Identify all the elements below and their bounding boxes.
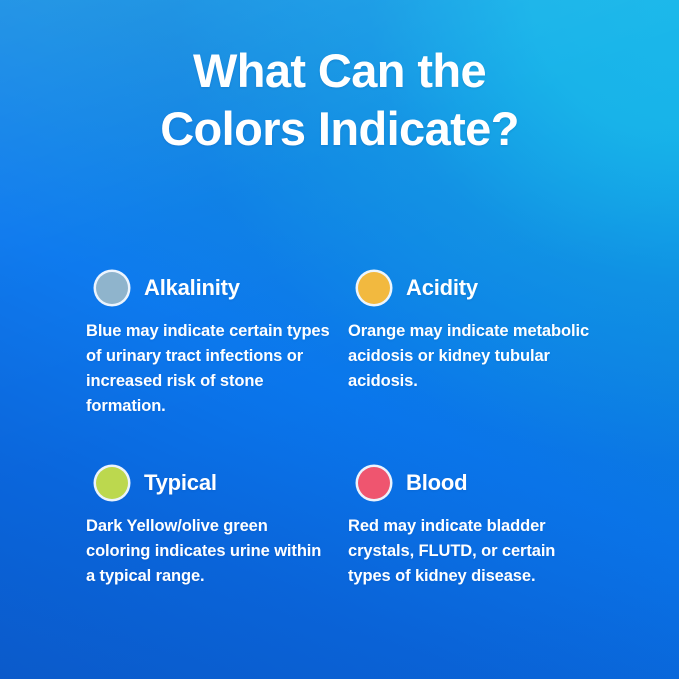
page-title-line-2: Colors Indicate? (0, 100, 679, 158)
color-card-typical: Typical Dark Yellow/olive green coloring… (86, 463, 348, 589)
page-title-line-1: What Can the (0, 42, 679, 100)
circle-swatch-icon (358, 272, 390, 304)
card-description: Blue may indicate certain types of urina… (86, 319, 331, 419)
card-header: Typical (96, 463, 348, 503)
color-card-blood: Blood Red may indicate bladder crystals,… (348, 463, 606, 589)
card-title: Alkalinity (144, 277, 240, 299)
card-title: Typical (144, 472, 217, 494)
circle-swatch-icon (96, 272, 128, 304)
circle-swatch-icon (358, 467, 390, 499)
page-title: What Can the Colors Indicate? (0, 42, 679, 158)
color-card-alkalinity: Alkalinity Blue may indicate certain typ… (86, 268, 348, 419)
color-card-acidity: Acidity Orange may indicate metabolic ac… (348, 268, 606, 419)
card-title: Acidity (406, 277, 478, 299)
card-header: Alkalinity (96, 268, 348, 308)
card-description: Red may indicate bladder crystals, FLUTD… (348, 514, 600, 589)
color-indicator-grid: Alkalinity Blue may indicate certain typ… (86, 268, 606, 589)
card-title: Blood (406, 472, 467, 494)
card-header: Acidity (358, 268, 606, 308)
card-description: Dark Yellow/olive green coloring indicat… (86, 514, 331, 589)
card-description: Orange may indicate metabolic acidosis o… (348, 319, 600, 394)
card-header: Blood (358, 463, 606, 503)
circle-swatch-icon (96, 467, 128, 499)
infographic-poster: What Can the Colors Indicate? Alkalinity… (0, 0, 679, 679)
